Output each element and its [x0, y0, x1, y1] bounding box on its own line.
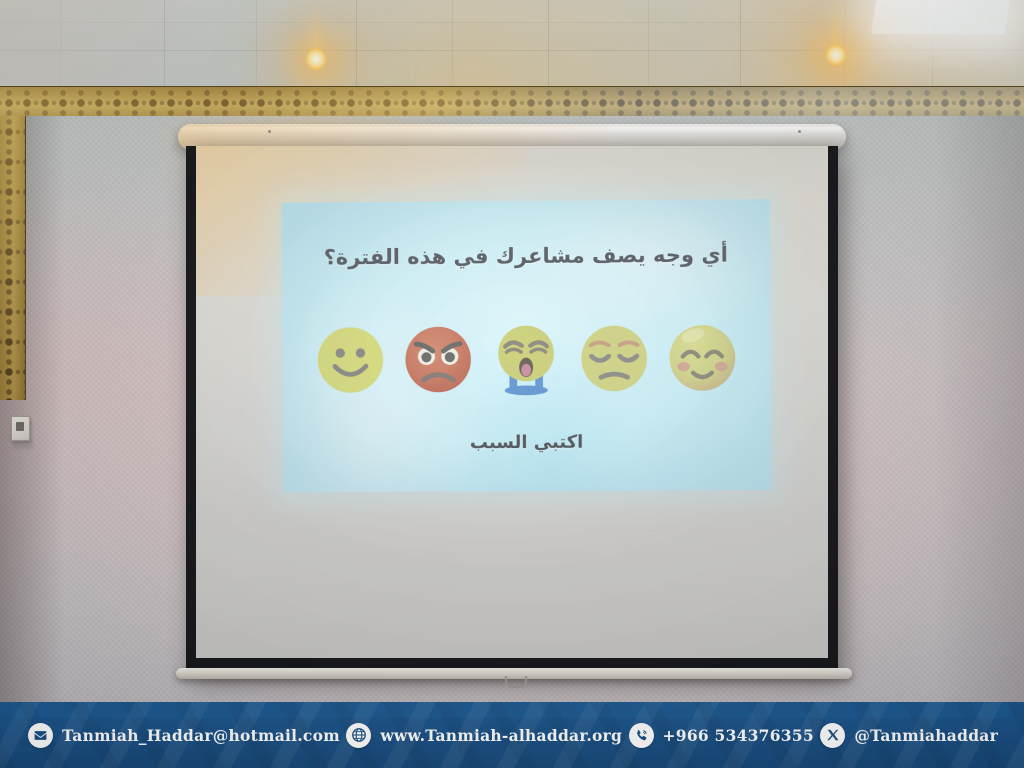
wall-shadow-right [934, 116, 1024, 702]
x-twitter-icon [820, 723, 845, 748]
footer-website-text: www.Tanmiah-alhaddar.org [380, 726, 622, 745]
footer-website-item[interactable]: www.Tanmiah-alhaddar.org [346, 723, 622, 748]
footer-email-text: Tanmiah_Haddar@hotmail.com [62, 726, 340, 745]
wall-light-switch[interactable] [11, 416, 30, 441]
phone-icon [629, 723, 654, 748]
arabesque-frieze-band [0, 86, 1024, 118]
globe-icon [346, 723, 371, 748]
screen-pull-handle[interactable] [505, 676, 527, 688]
warm-downlight-right [826, 44, 846, 66]
frieze-light-wash [0, 87, 1024, 117]
slide-vignette [282, 199, 772, 492]
room-photo-scene: أي وجه يصف مشاعرك في هذه الفترة؟ [0, 0, 1024, 768]
footer-email-item[interactable]: Tanmiah_Haddar@hotmail.com [28, 723, 340, 748]
contact-footer-bar: Tanmiah_Haddar@hotmail.com www.Tanmiah-a… [0, 702, 1024, 768]
wall-lattice-column [0, 116, 26, 400]
housing-screw [268, 130, 271, 133]
footer-phone-item[interactable]: +966 534376355 [629, 723, 814, 748]
projected-slide: أي وجه يصف مشاعرك في هذه الفترة؟ [282, 199, 772, 492]
ceiling-panel-light [871, 0, 1011, 34]
footer-phone-text: +966 534376355 [663, 726, 814, 745]
footer-x-item[interactable]: @Tanmiahaddar [820, 723, 998, 748]
housing-screw [798, 130, 801, 133]
wall-switch-shadow [13, 440, 33, 449]
footer-contact-list: Tanmiah_Haddar@hotmail.com www.Tanmiah-a… [0, 714, 1024, 756]
envelope-icon [28, 723, 53, 748]
warm-downlight-left [306, 48, 326, 70]
ceiling [0, 0, 1024, 98]
lattice-column-light [0, 116, 25, 400]
footer-x-text: @Tanmiahaddar [854, 726, 998, 745]
ceiling-light-tint [0, 0, 1024, 98]
